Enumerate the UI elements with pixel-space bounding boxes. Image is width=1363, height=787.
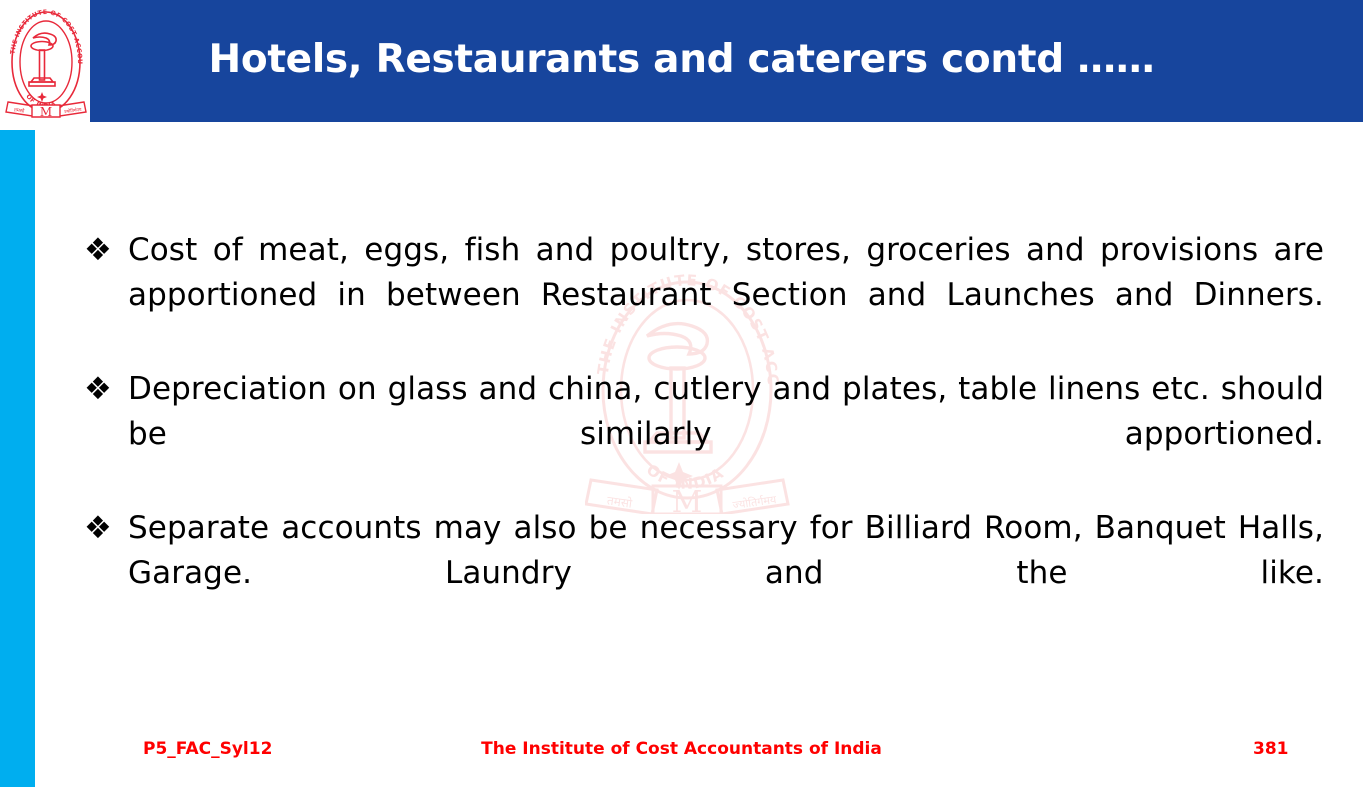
institute-seal-logo: THE INSTITUTE OF COST ACCOUNTANTS OF IND… xyxy=(4,4,88,120)
bullet-text: Cost of meat, eggs, fish and poultry, st… xyxy=(128,228,1324,363)
footer-organisation: The Institute of Cost Accountants of Ind… xyxy=(0,738,1363,760)
svg-text:ज्योतिर्गमय: ज्योतिर्गमय xyxy=(64,107,83,115)
bullet-text: Depreciation on glass and china, cutlery… xyxy=(128,367,1324,502)
diamond-bullet-icon: ❖ xyxy=(84,367,128,412)
list-item: ❖ Depreciation on glass and china, cutle… xyxy=(84,367,1324,502)
footer-page-number: 381 xyxy=(1253,738,1289,760)
svg-text:M: M xyxy=(40,105,52,119)
list-item: ❖ Cost of meat, eggs, fish and poultry, … xyxy=(84,228,1324,363)
bullet-text: Separate accounts may also be necessary … xyxy=(128,506,1324,641)
page-title: Hotels, Restaurants and caterers contd …… xyxy=(0,36,1363,84)
footer: P5_FAC_Syl12 The Institute of Cost Accou… xyxy=(0,735,1363,765)
diamond-bullet-icon: ❖ xyxy=(84,228,128,273)
left-accent-stripe xyxy=(0,130,35,787)
body-content: ❖ Cost of meat, eggs, fish and poultry, … xyxy=(84,228,1324,645)
diamond-bullet-icon: ❖ xyxy=(84,506,128,551)
slide-canvas: Hotels, Restaurants and caterers contd …… xyxy=(0,0,1363,787)
list-item: ❖ Separate accounts may also be necessar… xyxy=(84,506,1324,641)
